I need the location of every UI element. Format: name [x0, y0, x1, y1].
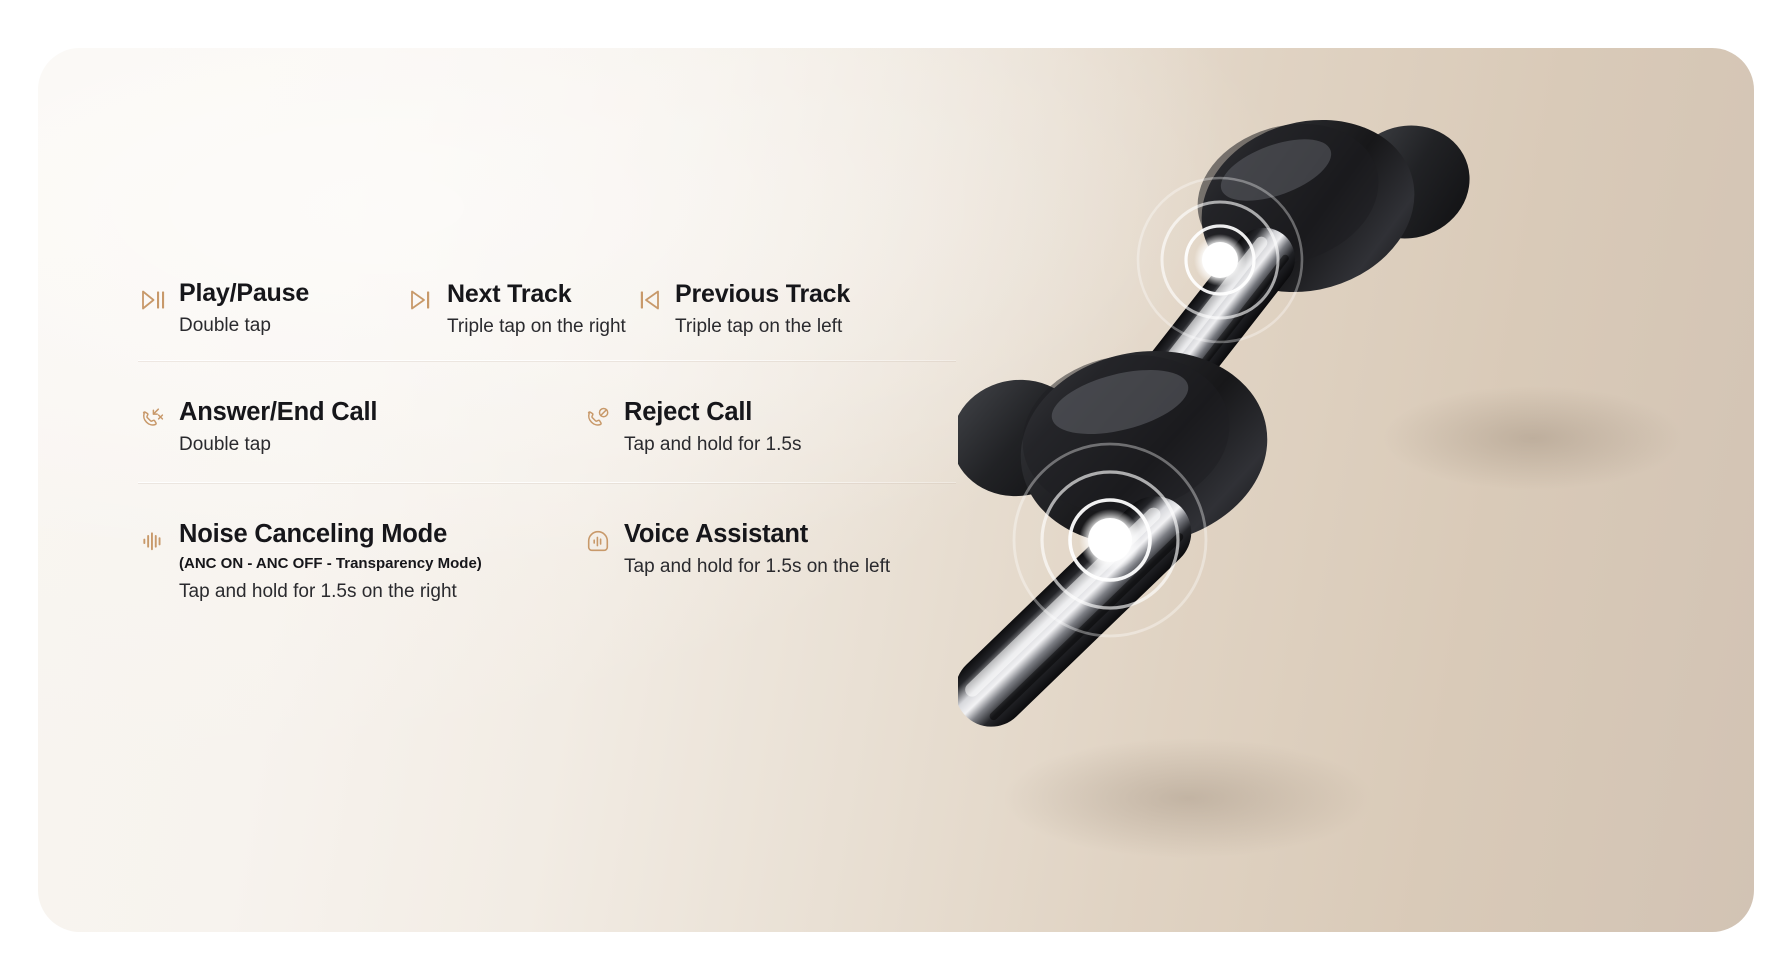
feature-title: Next Track [447, 281, 626, 308]
feature-voice-assistant[interactable]: Voice Assistant Tap and hold for 1.5s on… [583, 521, 890, 604]
feature-next-track[interactable]: Next Track Triple tap on the right [406, 280, 634, 339]
feature-answer-end-call[interactable]: Answer/End Call Double tap [138, 399, 583, 457]
noise-canceling-icon [138, 526, 168, 556]
feature-play-pause[interactable]: Play/Pause Double tap [138, 280, 406, 339]
feature-title: Voice Assistant [624, 521, 890, 548]
feature-previous-track[interactable]: Previous Track Triple tap on the left [634, 280, 850, 339]
next-track-icon [406, 285, 436, 315]
feature-subtitle: Triple tap on the right [447, 315, 626, 339]
feature-subtitle: Tap and hold for 1.5s [624, 433, 801, 457]
feature-row-calls: Answer/End Call Double tap Reject Call [138, 361, 958, 483]
feature-row-modes: Noise Canceling Mode (ANC ON - ANC OFF -… [138, 483, 958, 604]
answer-end-call-icon [138, 404, 168, 434]
feature-subtitle: Double tap [179, 433, 377, 457]
feature-title: Answer/End Call [179, 399, 377, 426]
previous-track-icon [634, 285, 664, 315]
feature-text-block: Noise Canceling Mode (ANC ON - ANC OFF -… [179, 521, 482, 604]
voice-assistant-icon [583, 526, 613, 556]
earbud-lower-left [958, 332, 1283, 742]
feature-row-playback: Play/Pause Double tap Next Track Triple … [138, 280, 958, 361]
feature-title: Noise Canceling Mode [179, 521, 482, 548]
feature-noise-canceling-mode[interactable]: Noise Canceling Mode (ANC ON - ANC OFF -… [138, 521, 583, 604]
feature-text-block: Next Track Triple tap on the right [447, 280, 626, 339]
feature-subtitle: Triple tap on the left [675, 315, 850, 339]
feature-subtitle: Tap and hold for 1.5s on the left [624, 555, 890, 579]
feature-title: Previous Track [675, 281, 850, 308]
feature-text-block: Play/Pause Double tap [179, 280, 309, 338]
feature-text-block: Reject Call Tap and hold for 1.5s [624, 399, 801, 457]
reject-call-icon [583, 404, 613, 434]
feature-title: Play/Pause [179, 280, 309, 307]
feature-card: Play/Pause Double tap Next Track Triple … [38, 48, 1754, 932]
play-pause-icon [138, 285, 168, 315]
feature-note: (ANC ON - ANC OFF - Transparency Mode) [179, 555, 482, 573]
feature-text-block: Voice Assistant Tap and hold for 1.5s on… [624, 521, 890, 579]
feature-reject-call[interactable]: Reject Call Tap and hold for 1.5s [583, 399, 801, 457]
feature-title: Reject Call [624, 399, 801, 426]
feature-subtitle: Double tap [179, 314, 309, 338]
page-root: Play/Pause Double tap Next Track Triple … [0, 0, 1790, 980]
feature-text-block: Answer/End Call Double tap [179, 399, 377, 457]
controls-feature-list: Play/Pause Double tap Next Track Triple … [138, 280, 958, 604]
wireless-earbuds-pair [958, 108, 1748, 928]
feature-text-block: Previous Track Triple tap on the left [675, 280, 850, 339]
feature-subtitle: Tap and hold for 1.5s on the right [179, 580, 482, 604]
